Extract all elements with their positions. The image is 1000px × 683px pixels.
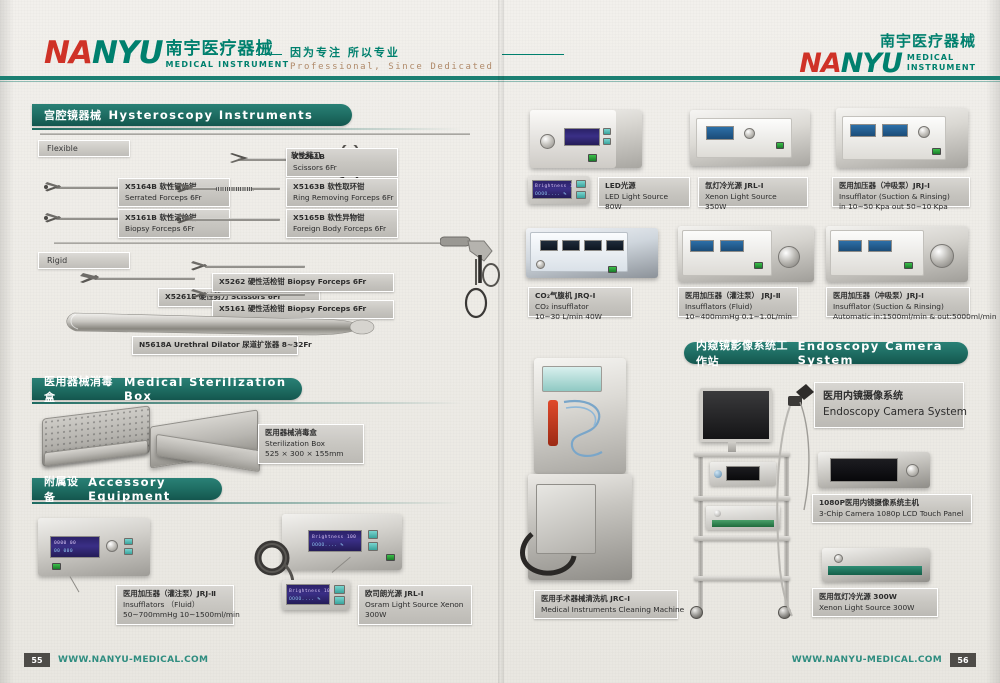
caption-en: Xenon Light Source — [705, 192, 801, 203]
caption-osram-light: 欧司朗光源 JRL-Ⅰ Osram Light Source Xenon 300… — [358, 585, 472, 625]
device-display-2 — [868, 240, 892, 252]
caption-spec: 80W — [605, 202, 683, 213]
device-button-down — [368, 542, 378, 551]
led-button-up — [334, 585, 345, 594]
brand-wordmark-right: NANYU — [799, 50, 902, 77]
forceps-jaw-icon — [188, 286, 208, 302]
device-display-1 — [850, 124, 876, 137]
group-label-flexible: Flexible — [38, 140, 130, 157]
caption-en: Foreign Body Forceps 6Fr — [293, 224, 391, 235]
section-header-sterilization: 医用器械消毒盒 Medical Sterilization Box — [32, 378, 302, 400]
caption-en: Insufflator (Suction & Rinsing) — [833, 302, 963, 313]
caption-en: Scissors 6Fr — [293, 163, 391, 174]
caption-spec: 350W — [705, 202, 801, 213]
device-knob — [106, 540, 118, 552]
device-display-1 — [838, 240, 862, 252]
camera-unit-display — [726, 466, 760, 481]
caption-x5261b-cn: 软性剪刀 — [291, 150, 321, 161]
device-display-1 — [690, 240, 714, 252]
caption-spec: Automatic in:1500ml/min & out:5000ml/min — [833, 312, 963, 323]
device-power-button — [754, 262, 763, 269]
caption-en: Insufflator (Suction & Rinsing) — [839, 192, 963, 203]
device-insufflator-fluid-right — [678, 226, 814, 282]
caption-cn: 医用器械消毒盒 — [265, 428, 357, 439]
slogan-block: 因为专注 所以专业 Professional, Since Dedicated — [256, 44, 564, 72]
device-display-2 — [562, 240, 580, 251]
device-display: 0000 00 00 000 — [50, 536, 100, 558]
caption-en: LED Light Source — [605, 192, 683, 203]
slogan-cn: 因为专注 所以专业 — [290, 44, 494, 60]
caption-cn: X5163B 软性取环钳 — [293, 182, 391, 193]
light-source-port — [714, 510, 721, 517]
brand-logo-right: 南宇医疗器械 NANYU MEDICAL INSTRUMENT — [799, 34, 976, 77]
device-knob — [536, 260, 545, 269]
section-underline-accessory — [32, 502, 462, 504]
page-number-right: 56 — [950, 653, 976, 667]
device-power-button — [588, 154, 597, 162]
cart-post-left — [698, 452, 703, 614]
device-cleaning-machine-upper — [534, 358, 626, 474]
cart-monitor — [700, 388, 772, 442]
caption-insufflator-fluid: 医用加压器（灌注泵）JRJ-Ⅱ Insufflators （Fluid） 50~… — [116, 585, 234, 625]
led-button-down — [576, 191, 586, 199]
device-led-panel-inset: Brightness 100 OOOO.... % — [282, 580, 350, 610]
cart-camera-unit — [710, 462, 776, 486]
device-display: Brightness 100 OOOO.... % — [308, 530, 362, 552]
scissors-jaw-icon — [78, 270, 100, 286]
caption-dilator: N5618A Urethral Dilator 尿道扩张器 8~32Fr — [132, 336, 298, 355]
section-title-en: Accessory Equipment — [88, 475, 222, 503]
caption-spec: 50~700mmHg 10~1500ml/min — [123, 610, 227, 621]
device-button-up — [368, 530, 378, 539]
caption-cn: 医用加压器（冲吸泵）JRJ-Ⅰ — [839, 181, 963, 192]
device-xenon-light-source — [690, 110, 810, 166]
page-fold — [498, 0, 504, 683]
caption-xenon-300w: 医用氙灯冷光源 300W Xenon Light Source 300W — [812, 588, 938, 617]
section-underline-sterilization — [32, 402, 462, 404]
caption-x5163b: X5163B 软性取环钳 Ring Removing Forceps 6Fr — [286, 178, 398, 207]
cart-light-source-unit — [706, 506, 780, 530]
device-led-panel-inset-2: Brightness 100 OOOO.... % — [528, 176, 590, 204]
caption-insufflator-fluid-right: 医用加压器（灌注泵） JRJ-Ⅱ Insufflators (Fluid) 10… — [678, 287, 798, 317]
caption-co2-insufflator: CO₂气腹机 JRQ-Ⅰ CO₂ insufflator 10~30 L/min… — [528, 287, 632, 317]
light-source-green-strip — [712, 520, 774, 527]
device-display-1 — [540, 240, 558, 251]
caption-en: Sterilization Box — [265, 439, 357, 450]
cart-caster-left — [690, 606, 703, 619]
device-display — [564, 128, 600, 146]
machine-hose-handle — [548, 400, 558, 446]
device-power-button — [386, 554, 395, 561]
camera-unit-knob — [714, 470, 722, 478]
caption-cn: 医用内镜摄像系统 — [823, 390, 955, 405]
caption-en: Endoscopy Camera System — [823, 405, 955, 420]
caption-cleaning-machine: 医用手术器械清洗机 JRC-Ⅰ Medical Instruments Clea… — [534, 590, 678, 619]
caption-dim: 525 × 300 × 155mm — [265, 449, 357, 460]
device-display-2 — [882, 124, 908, 137]
led-button-down — [334, 596, 345, 605]
caption-cn: 欧司朗光源 JRL-Ⅰ — [365, 589, 465, 600]
forceps-jaw-icon — [188, 258, 208, 274]
flexible-scope-shaft — [40, 133, 470, 135]
website-url-left: WWW.NANYU-MEDICAL.COM — [58, 655, 208, 665]
page-footer: 55 WWW.NANYU-MEDICAL.COM WWW.NANYU-MEDIC… — [0, 645, 1000, 683]
device-power-button — [52, 563, 61, 570]
caption-en: Insufflators （Fluid） — [123, 600, 227, 611]
device-pump-head — [778, 246, 800, 268]
caption-xenon-light-source: 氙灯冷光源 JRL-Ⅰ Xenon Light Source 350W — [698, 177, 808, 207]
led-button-up — [576, 180, 586, 188]
page-number-left: 55 — [24, 653, 50, 667]
callout-leader — [70, 576, 80, 592]
device-button-down — [603, 138, 611, 145]
section-title-en: Endoscopy Camera System — [798, 339, 968, 367]
caption-spec: in 10~50 Kpa out 50~10 Kpa — [839, 202, 963, 213]
caption-cn: X5165B 软性异物钳 — [293, 213, 391, 224]
device-button-up — [603, 128, 611, 135]
device-power-button — [776, 142, 784, 149]
section-title-en: Hysteroscopy Instruments — [109, 108, 314, 122]
caption-en: Ring Removing Forceps 6Fr — [293, 193, 391, 204]
xenon-green-strip — [828, 566, 922, 575]
caption-text: N5618A Urethral Dilator 尿道扩张器 8~32Fr — [139, 340, 291, 351]
slogan-rule-left — [256, 54, 282, 55]
device-co2-insufflator — [526, 228, 658, 278]
device-button-up — [124, 538, 133, 545]
caption-cn: LED光源 — [605, 181, 683, 192]
caption-spec: 300W — [365, 610, 465, 621]
led-readout: Brightness 100 OOOO.... % — [286, 584, 330, 605]
forceps-jaw-icon — [174, 211, 194, 227]
device-knob — [744, 128, 755, 139]
led-readout: Brightness 100 OOOO.... % — [532, 180, 572, 199]
caption-insufflator-suction-1: 医用加压器（冲吸泵）JRJ-Ⅰ Insufflator (Suction & R… — [832, 177, 970, 207]
camera-host-knob — [906, 464, 919, 477]
forceps-jaw-icon — [174, 180, 194, 196]
caption-spec: 10~30 L/min 40W — [535, 312, 625, 323]
device-display-4 — [606, 240, 624, 251]
website-url-right: WWW.NANYU-MEDICAL.COM — [792, 655, 942, 665]
caption-sterilization-box: 医用器械消毒盒 Sterilization Box 525 × 300 × 15… — [258, 424, 364, 464]
section-title-cn: 内窥镜影像系统工作站 — [696, 337, 791, 369]
caption-cn: 医用加压器（灌注泵） JRJ-Ⅱ — [685, 291, 791, 302]
device-insufflator-suction-1 — [836, 108, 968, 168]
group-label-rigid: Rigid — [38, 252, 130, 269]
section-header-camera-system: 内窥镜影像系统工作站 Endoscopy Camera System — [684, 342, 968, 364]
caption-x5262: X5262 硬性活检钳 Biopsy Forceps 6Fr — [212, 273, 394, 292]
catalog-page: NANYU 南宇医疗器械 MEDICAL INSTRUMENT 因为专注 所以专… — [0, 0, 1000, 683]
device-knob — [918, 126, 930, 138]
device-display — [706, 126, 734, 140]
forceps-jaw-icon — [42, 179, 62, 195]
coiled-hose-icon — [558, 396, 618, 468]
caption-insufflator-suction-2: 医用加压器（冲吸泵）JRJ-Ⅰ Insufflator (Suction & R… — [826, 287, 970, 317]
caption-cn: 氙灯冷光源 JRL-Ⅰ — [705, 181, 801, 192]
section-underline-hysteroscopy — [32, 128, 462, 130]
device-knob — [540, 134, 555, 149]
slogan-en: Professional, Since Dedicated — [290, 62, 494, 72]
caption-spec: 10~400mmHg 0.1~1.0L/min — [685, 312, 791, 323]
section-title-en: Medical Sterilization Box — [124, 375, 302, 403]
device-power-button — [608, 266, 617, 273]
device-cleaning-machine-lower — [528, 474, 632, 580]
xenon-port — [834, 554, 843, 563]
caption-text: X5262 硬性活检钳 Biopsy Forceps 6Fr — [219, 277, 387, 288]
device-button-down — [124, 548, 133, 555]
caption-en: CO₂ insufflator — [535, 302, 625, 313]
scissors-jaw-icon — [228, 150, 250, 168]
section-header-hysteroscopy: 宫腔镜器械 Hysteroscopy Instruments — [32, 104, 352, 126]
brand-wordmark: NANYU — [44, 38, 163, 69]
device-1080p-camera-host — [818, 452, 930, 488]
black-hose-icon — [518, 530, 592, 584]
caption-1080p-camera-host: 1080P医用内镜摄像系统主机 3-Chip Camera 1080p LCD … — [812, 494, 972, 523]
brand-en-line2: INSTRUMENT — [907, 63, 976, 73]
device-osram-light-source: Brightness 100 OOOO.... % — [282, 514, 402, 570]
caption-cn: 医用手术器械清洗机 JRC-Ⅰ — [541, 594, 671, 605]
caption-cn: 医用氙灯冷光源 300W — [819, 592, 931, 603]
led-brightness-label: Brightness 100 — [289, 589, 333, 594]
led-sub-label: OOOO.... % — [289, 597, 321, 602]
device-insufflator-suction-2 — [826, 226, 968, 282]
section-title-cn: 医用器械消毒盒 — [44, 373, 117, 405]
device-pump-head — [930, 244, 954, 268]
caption-en: Medical Instruments Cleaning Machine — [541, 605, 671, 616]
device-insufflator-fluid: 0000 00 00 000 — [38, 518, 150, 576]
rigid-scope-shaft — [54, 242, 454, 244]
caption-en: Xenon Light Source 300W — [819, 603, 931, 614]
caption-x5165b: X5165B 软性异物钳 Foreign Body Forceps 6Fr — [286, 209, 398, 238]
device-display-3 — [584, 240, 602, 251]
caption-en: Insufflators (Fluid) — [685, 302, 791, 313]
device-xenon-300w — [822, 548, 930, 582]
rigid-scope-handle-icon — [440, 225, 500, 335]
device-display-2 — [720, 240, 744, 252]
caption-led-light-source: LED光源 LED Light Source 80W — [598, 177, 690, 207]
machine-display — [542, 366, 602, 392]
caption-camera-system: 医用内镜摄像系统 Endoscopy Camera System — [814, 382, 964, 428]
caption-en: 3-Chip Camera 1080p LCD Touch Panel — [819, 509, 965, 520]
section-header-accessory: 附属设备 Accessory Equipment — [32, 478, 222, 500]
device-power-button — [932, 148, 941, 155]
forceps-jaw-icon — [42, 210, 62, 226]
brand-en-line1: MEDICAL — [907, 53, 976, 63]
section-title-cn: 宫腔镜器械 — [44, 107, 102, 123]
caption-cn: CO₂气腹机 JRQ-Ⅰ — [535, 291, 625, 302]
caption-en: Osram Light Source Xenon — [365, 600, 465, 611]
caption-cn: 医用加压器（灌注泵）JRJ-Ⅱ — [123, 589, 227, 600]
slogan-rule-right — [502, 54, 564, 55]
device-power-button — [904, 262, 913, 269]
caption-cn: 医用加压器（冲吸泵）JRJ-Ⅰ — [833, 291, 963, 302]
camera-host-display — [830, 458, 898, 482]
section-title-cn: 附属设备 — [44, 473, 81, 505]
device-led-light-source — [530, 110, 642, 168]
brand-logo-left: NANYU 南宇医疗器械 MEDICAL INSTRUMENT — [44, 38, 289, 69]
caption-cn: 1080P医用内镜摄像系统主机 — [819, 498, 965, 509]
